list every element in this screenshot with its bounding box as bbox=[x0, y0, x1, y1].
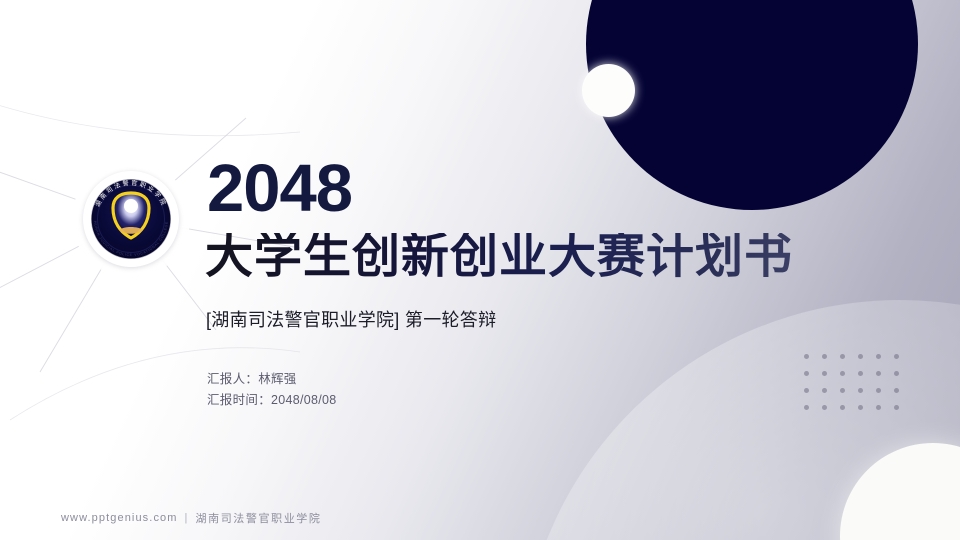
footer-website[interactable]: www.pptgenius.com bbox=[61, 512, 178, 524]
footer-separator: | bbox=[185, 512, 189, 524]
slide-meta: 汇报人：林辉强 汇报时间：2048/08/08 bbox=[207, 369, 337, 411]
slide-footer: www.pptgenius.com | 湖南司法警官职业学院 bbox=[61, 510, 322, 526]
decorative-dot-grid bbox=[804, 354, 912, 422]
slide-headline: 大学生创新创业大赛计划书 bbox=[205, 233, 793, 281]
college-logo: 湖南司法警官职业学院 HUNAN JUDICIAL POLICE VOCATIO… bbox=[72, 160, 190, 278]
decorative-white-corner-circle bbox=[840, 443, 960, 540]
date-line: 汇报时间：2048/08/08 bbox=[207, 390, 337, 411]
slide-subtitle: [湖南司法警官职业学院] 第一轮答辩 bbox=[206, 306, 496, 332]
decorative-navy-circle bbox=[586, 0, 918, 210]
slide-year: 2048 bbox=[207, 155, 352, 222]
logo-emblem-icon: 湖南司法警官职业学院 HUNAN JUDICIAL POLICE VOCATIO… bbox=[72, 160, 190, 278]
presenter-line: 汇报人：林辉强 bbox=[207, 369, 337, 390]
decorative-white-dot-circle bbox=[582, 64, 635, 117]
footer-organization: 湖南司法警官职业学院 bbox=[196, 510, 322, 526]
presentation-slide: 湖南司法警官职业学院 HUNAN JUDICIAL POLICE VOCATIO… bbox=[0, 0, 960, 540]
